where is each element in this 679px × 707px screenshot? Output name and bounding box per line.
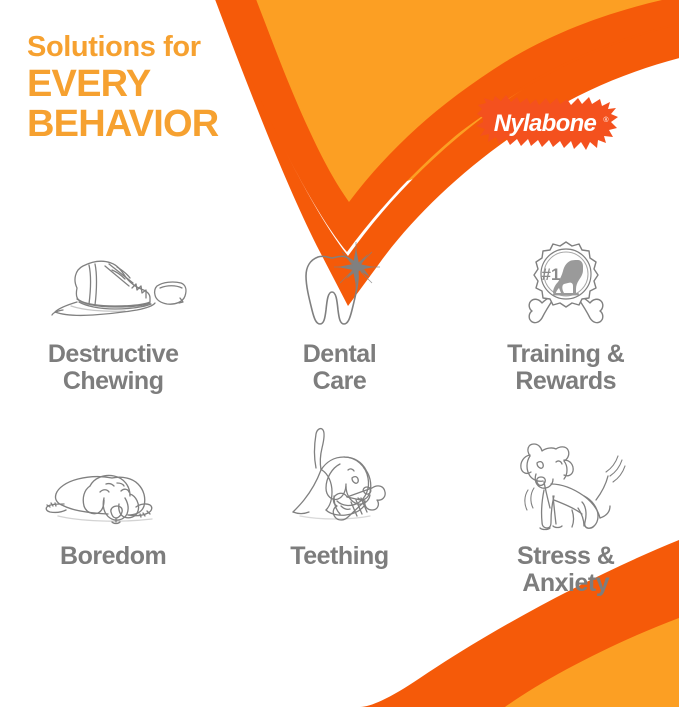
badge-rank-text: #1 bbox=[541, 265, 560, 284]
tremble-lines-left bbox=[525, 488, 534, 510]
behavior-grid: Destructive Chewing bbox=[0, 236, 679, 596]
behavior-item-destructive-chewing[interactable]: Destructive Chewing bbox=[0, 236, 226, 394]
headline-line-1: Solutions for bbox=[27, 33, 327, 62]
page-title: Solutions for EVERY BEHAVIOR bbox=[27, 33, 327, 143]
behavior-label: Boredom bbox=[60, 543, 166, 570]
nylabone-logo: Nylabone ® bbox=[473, 92, 619, 158]
behavior-row-top: Destructive Chewing bbox=[0, 236, 679, 394]
trembling-dog-icon bbox=[506, 436, 626, 534]
behavior-row-bottom: Boredom bbox=[0, 436, 679, 596]
behavior-label: Stress & Anxiety bbox=[517, 543, 614, 596]
headline-line-3: BEHAVIOR bbox=[27, 105, 327, 143]
behavior-item-boredom[interactable]: Boredom bbox=[0, 436, 226, 596]
bottom-swoosh-light bbox=[505, 618, 679, 707]
lying-dog-icon bbox=[28, 436, 198, 534]
puppy-chewing-bone-icon bbox=[276, 436, 402, 534]
behavior-item-dental-care[interactable]: Dental Care bbox=[226, 236, 452, 394]
headline-line-2: EVERY bbox=[27, 65, 327, 103]
behavior-label: Destructive Chewing bbox=[48, 341, 179, 394]
behavior-item-training-rewards[interactable]: #1 Training & Rewards bbox=[453, 236, 679, 394]
tremble-lines-right bbox=[606, 456, 625, 482]
chewed-shoe-icon bbox=[33, 236, 193, 332]
behavior-item-teething[interactable]: Teething bbox=[226, 436, 452, 596]
behavior-label: Dental Care bbox=[303, 341, 376, 394]
logo-wordmark: Nylabone bbox=[494, 110, 597, 137]
logo-trademark-symbol: ® bbox=[603, 116, 609, 124]
award-ribbon-dog-icon: #1 bbox=[510, 236, 622, 332]
behavior-item-stress-anxiety[interactable]: Stress & Anxiety bbox=[453, 436, 679, 596]
sparkling-tooth-icon bbox=[284, 236, 394, 332]
behavior-label: Teething bbox=[290, 543, 388, 570]
behavior-label: Training & Rewards bbox=[507, 341, 624, 394]
product-infographic-page: Solutions for EVERY BEHAVIOR Nylabone ® bbox=[0, 0, 679, 707]
